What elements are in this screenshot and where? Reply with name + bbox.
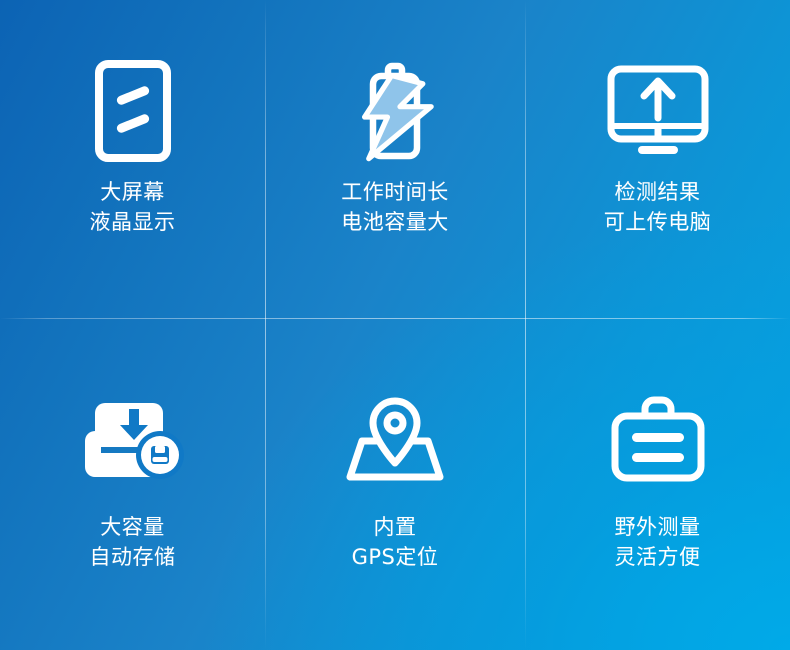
feature-cell-battery-life[interactable]: 工作时间长 电池容量大 — [265, 0, 525, 318]
feature-label-line1: 大屏幕 — [90, 178, 176, 208]
feature-cell-gps[interactable]: 内置 GPS定位 — [265, 318, 525, 650]
briefcase-icon — [598, 386, 718, 491]
feature-cell-upload-to-pc[interactable]: 检测结果 可上传电脑 — [525, 0, 790, 318]
battery-charging-icon — [335, 56, 455, 166]
feature-label-line2: 液晶显示 — [90, 208, 176, 238]
feature-label: 内置 GPS定位 — [352, 513, 439, 573]
feature-label-line2: GPS定位 — [352, 543, 439, 573]
feature-grid-banner: 大屏幕 液晶显示 工作时间长 电池容量大 — [0, 0, 790, 650]
feature-cell-auto-storage[interactable]: 大容量 自动存储 — [0, 318, 265, 650]
feature-label-line2: 自动存储 — [90, 543, 176, 573]
feature-label-line2: 灵活方便 — [615, 543, 701, 573]
feature-label-line1: 工作时间长 — [341, 178, 449, 208]
feature-cell-field-survey[interactable]: 野外测量 灵活方便 — [525, 318, 790, 650]
feature-grid: 大屏幕 液晶显示 工作时间长 电池容量大 — [0, 0, 790, 650]
feature-label-line1: 检测结果 — [604, 178, 712, 208]
feature-label: 检测结果 可上传电脑 — [604, 178, 712, 238]
feature-cell-lcd-screen[interactable]: 大屏幕 液晶显示 — [0, 0, 265, 318]
monitor-upload-icon — [598, 56, 718, 166]
feature-label-line1: 内置 — [352, 513, 439, 543]
feature-label: 大容量 自动存储 — [90, 513, 176, 573]
feature-label-line2: 电池容量大 — [341, 208, 449, 238]
lcd-screen-icon — [73, 56, 193, 166]
feature-label: 野外测量 灵活方便 — [615, 513, 701, 573]
feature-label-line2: 可上传电脑 — [604, 208, 712, 238]
feature-label: 大屏幕 液晶显示 — [90, 178, 176, 238]
feature-label-line1: 野外测量 — [615, 513, 701, 543]
feature-label-line1: 大容量 — [90, 513, 176, 543]
inbox-save-icon — [73, 386, 193, 491]
map-pin-icon — [335, 386, 455, 491]
feature-label: 工作时间长 电池容量大 — [341, 178, 449, 238]
